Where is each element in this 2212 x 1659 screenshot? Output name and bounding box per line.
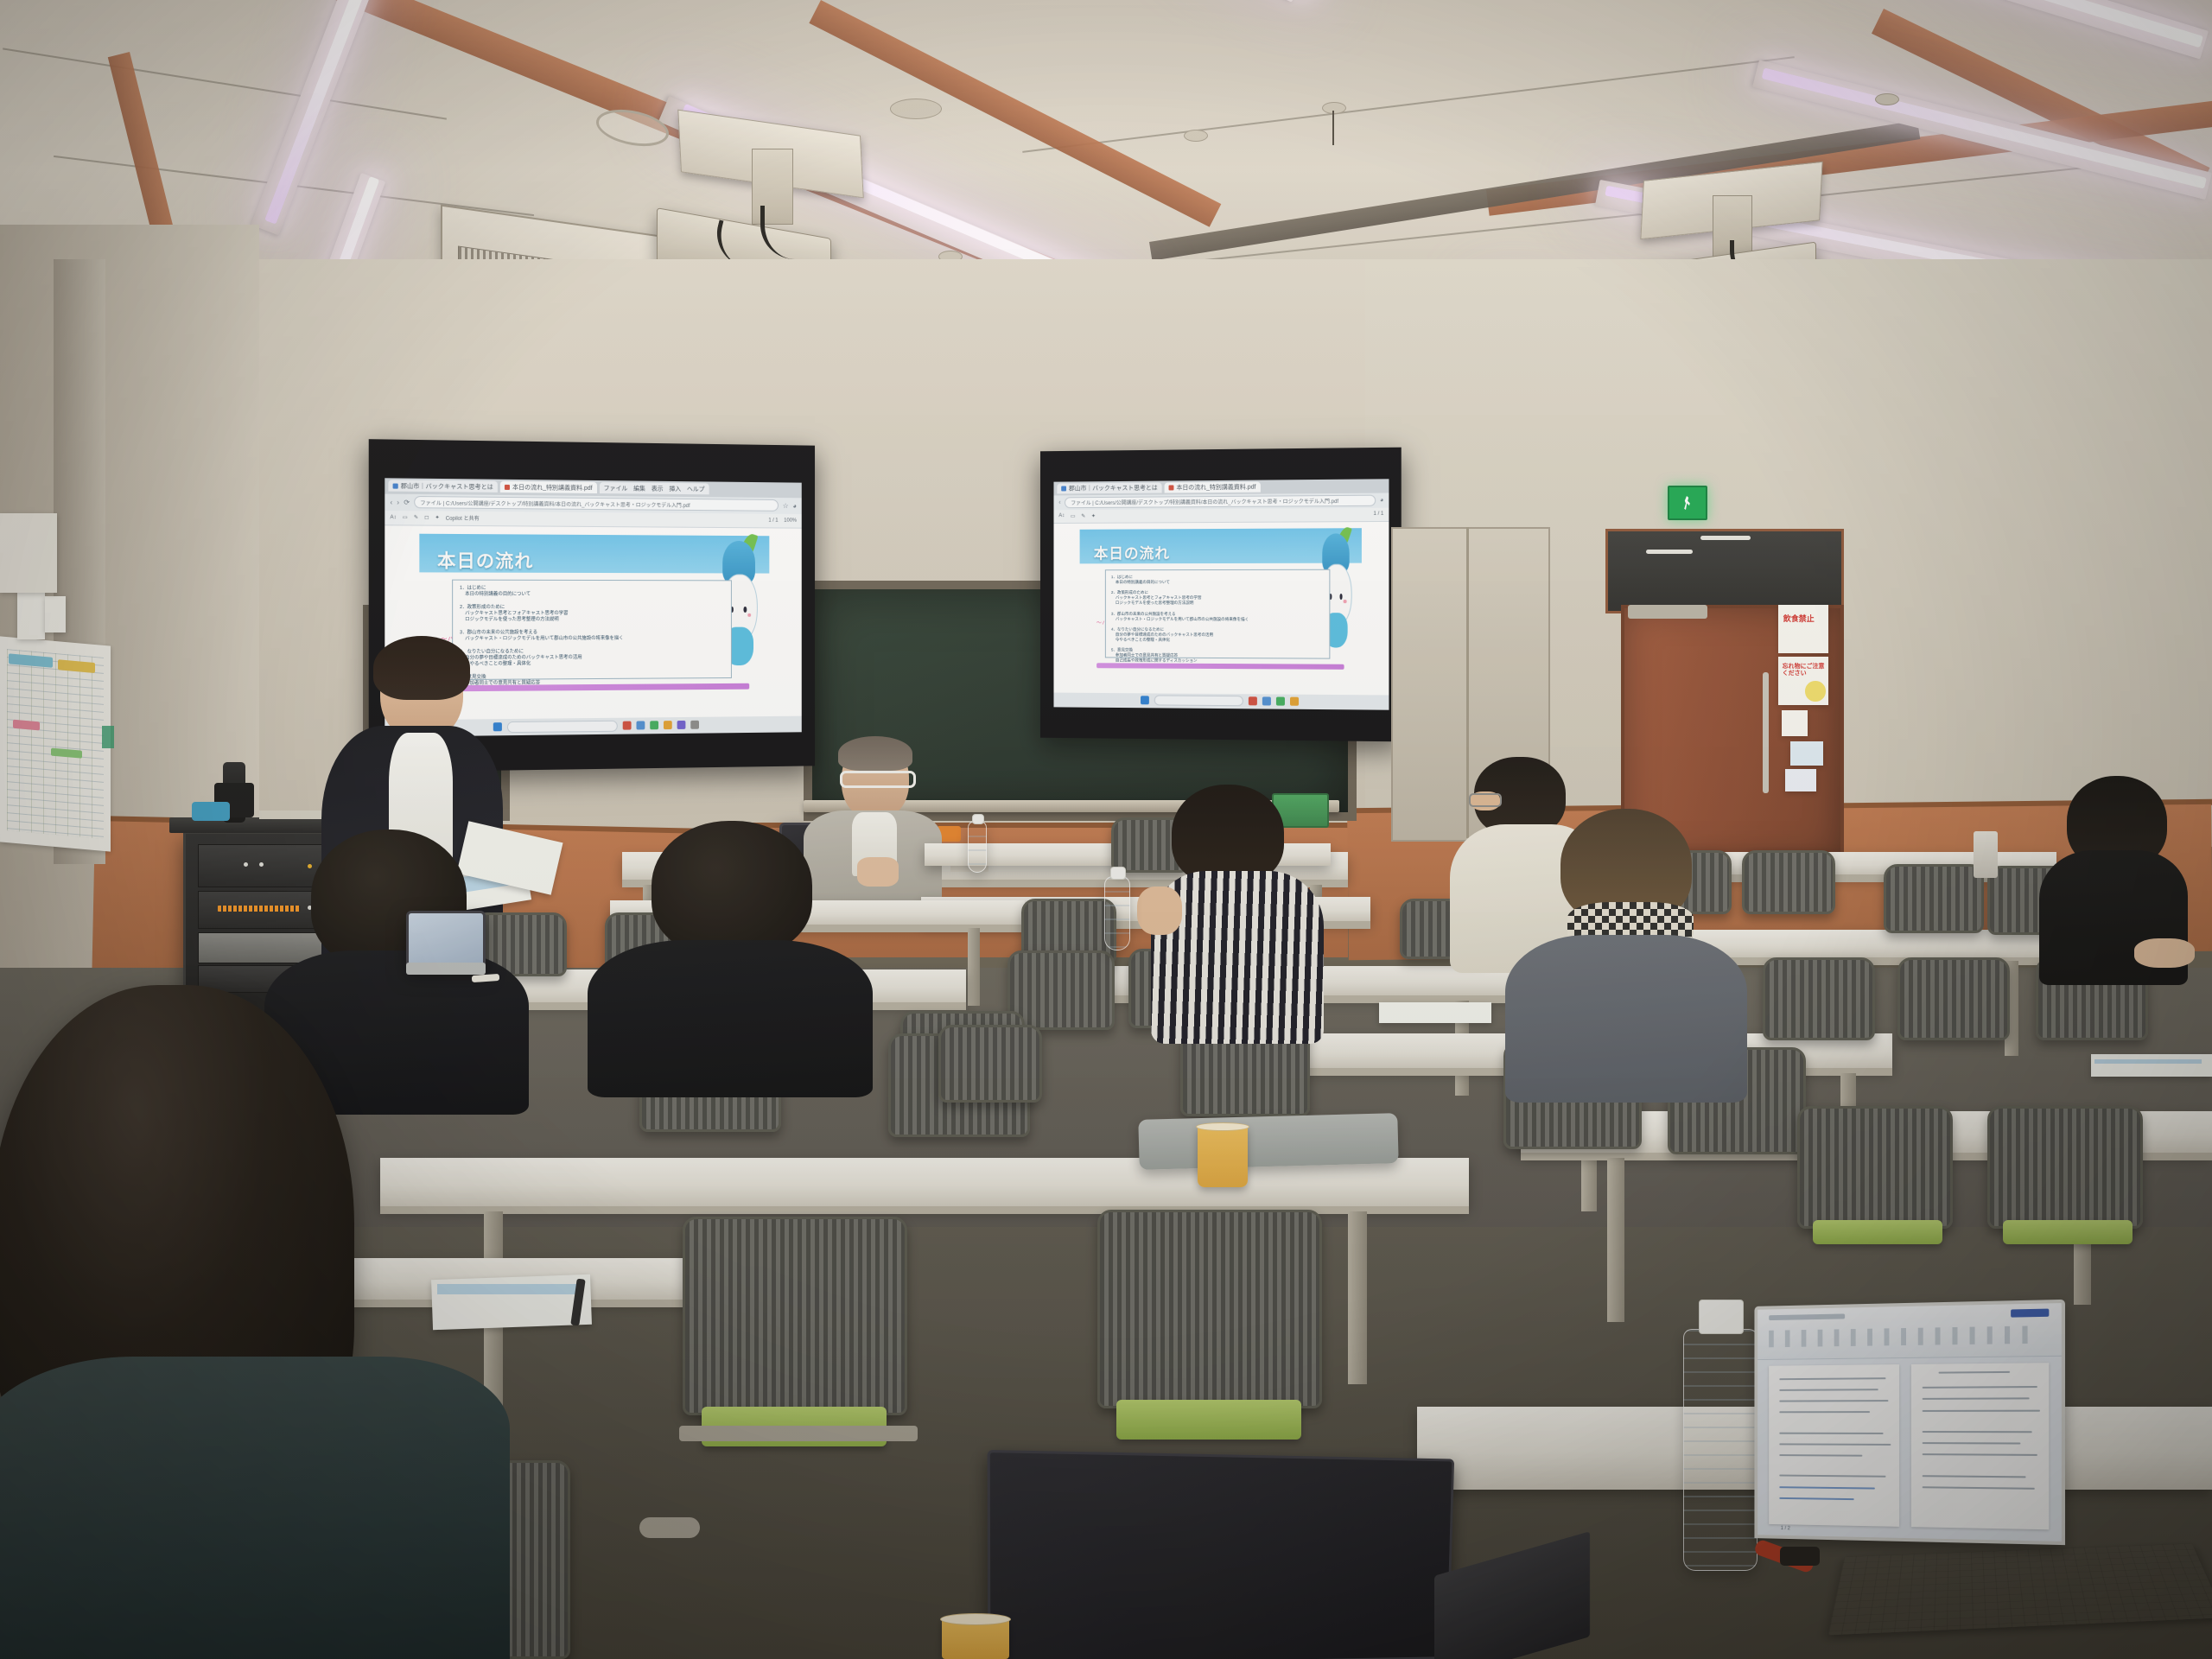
chair-seat <box>2003 1220 2133 1244</box>
slide-item: 2．政策形成のために バックキャスト思考とフォアキャスト思考の学習 ロジックモデ… <box>460 605 724 624</box>
exit-sign <box>1668 486 1707 520</box>
browser-tab-active[interactable]: 本日の流れ_特別講義資料.pdf <box>500 481 597 493</box>
slide-item: 5．意見交換 参加者同士での意見共有と質疑応答 自己成長や政策形成に関するディス… <box>1111 648 1324 664</box>
bottle-body <box>1104 876 1130 950</box>
text-line <box>1779 1454 1862 1457</box>
ribbon-icons[interactable] <box>1769 1325 2036 1347</box>
app-icon[interactable] <box>637 721 645 730</box>
chair-back <box>1763 957 1875 1040</box>
slide-body-box: 1．はじめに 本日の特別講義の目的について 2．政策形成のために バックキャスト… <box>1105 569 1331 659</box>
text-line-link <box>1779 1486 1875 1489</box>
handout-accent <box>2094 1059 2202 1064</box>
app-icon[interactable] <box>1249 697 1257 706</box>
app-icon[interactable] <box>650 721 658 730</box>
browser-tab-label: ファイル 編集 表示 挿入 ヘルプ <box>604 484 705 493</box>
back-arrow-icon[interactable]: ‹ <box>1058 499 1060 505</box>
chair-back <box>1742 850 1835 914</box>
pdf-document-view[interactable]: 本日の流れ 〜バックキャスト思考で未来を描く ロジックモデル入門〜 <box>1053 521 1389 695</box>
attendee-hair <box>652 821 812 956</box>
browser-tab-label: 郡山市｜バックキャスト思考とは <box>1069 484 1158 493</box>
power-plug <box>1780 1547 1820 1566</box>
chair[interactable] <box>1987 1106 2143 1229</box>
paper-cup[interactable] <box>1198 1125 1248 1187</box>
favicon-icon <box>393 483 398 488</box>
door-transom <box>1605 529 1844 613</box>
app-icon[interactable] <box>1276 697 1285 706</box>
text-line <box>1779 1377 1885 1380</box>
slide-item-detail: ロジックモデルを使った思考整理の方法説明 <box>1111 601 1324 606</box>
save-icon[interactable] <box>2011 1308 2049 1318</box>
wall-sticker <box>1790 741 1823 766</box>
slide-item-detail: バックキャスト・ロジックモデルを用いて郡山市の公共施設の将来像を描く <box>460 636 724 643</box>
text-line <box>1922 1475 2026 1478</box>
chair-back <box>1897 957 2010 1040</box>
page-indicator: 1 / 1 <box>1373 512 1383 517</box>
text-line <box>1922 1486 2034 1490</box>
page-indicator: 1 / 1 <box>768 518 778 523</box>
text-line <box>1779 1411 1870 1413</box>
app-icon[interactable] <box>1262 697 1271 706</box>
slide-footer-bar <box>1096 663 1344 669</box>
chair[interactable] <box>1897 957 2010 1040</box>
text-line <box>1779 1389 1878 1391</box>
word-status-bar: 1 / 2 <box>1781 1526 1790 1531</box>
draw-icon[interactable]: ✎ <box>414 515 418 521</box>
back-arrow-icon[interactable]: ‹ <box>390 498 392 505</box>
water-bottle[interactable] <box>968 821 987 873</box>
laptop-open[interactable] <box>406 911 486 969</box>
erase-icon[interactable]: ◻ <box>424 515 429 521</box>
wall-poster <box>0 636 111 851</box>
text-line <box>1779 1443 1891 1446</box>
desk-item <box>1974 831 1998 878</box>
windows-taskbar[interactable] <box>1053 692 1389 709</box>
status-led <box>244 862 248 867</box>
wall-sticker <box>1782 710 1808 736</box>
favicon-icon <box>505 485 510 490</box>
text-line <box>1938 1371 2009 1374</box>
slide-item: 2．政策形成のために バックキャスト思考とフォアキャスト思考の学習 ロジックモデ… <box>1111 590 1324 606</box>
text-line <box>1779 1400 1888 1402</box>
start-icon[interactable] <box>1141 696 1149 705</box>
laptop-base <box>406 963 486 975</box>
attendee-teal-jacket <box>0 1357 510 1659</box>
notice-text: 忘れ物にご注意ください <box>1783 664 1828 677</box>
right-projection-screen: 郡山市｜バックキャスト思考とは 本日の流れ_特別講義資料.pdf ‹ ファイル … <box>1053 479 1389 709</box>
chair-back <box>938 1025 1042 1103</box>
browser-window-right[interactable]: 郡山市｜バックキャスト思考とは 本日の流れ_特別講義資料.pdf ‹ ファイル … <box>1053 479 1389 709</box>
chair-back <box>1797 1106 1953 1229</box>
handout-papers <box>1379 1002 1491 1023</box>
running-person-icon <box>1683 496 1692 510</box>
app-icon[interactable] <box>677 721 686 729</box>
text-line <box>1922 1409 2040 1411</box>
smoke-detector <box>1184 130 1208 142</box>
wall-notice-no-food: 飲食禁止 <box>1778 605 1828 653</box>
ribbon-tabs[interactable] <box>1769 1313 1845 1320</box>
slide-item: 3．郡山市の未来の公共施設を考える バックキャスト・ロジックモデルを用いて郡山市… <box>1111 611 1324 622</box>
app-icon[interactable] <box>664 721 672 730</box>
chair[interactable] <box>1742 850 1835 914</box>
document-page-right <box>1911 1363 2049 1529</box>
forward-arrow-icon[interactable]: › <box>397 499 399 506</box>
chair[interactable] <box>683 1217 907 1415</box>
slide-item-detail: 本日の特別講義の目的について <box>1111 580 1324 585</box>
laptop-sleeve <box>1138 1113 1398 1170</box>
word-ribbon[interactable] <box>1758 1303 2062 1360</box>
document-page-left <box>1769 1364 1899 1526</box>
slide-title: 本日の流れ <box>1094 541 1170 563</box>
desk-leg <box>1348 1211 1367 1384</box>
favicon-icon <box>1061 486 1066 491</box>
slide-item-detail: 今やるべきことの整理・具体化 <box>1111 638 1324 644</box>
highlight-icon[interactable]: ▭ <box>403 515 408 521</box>
star-icon[interactable]: ☆ <box>783 502 789 510</box>
poster-content <box>7 649 105 838</box>
app-icon[interactable] <box>690 721 699 729</box>
chair[interactable] <box>1797 1106 1953 1229</box>
mascot-eye <box>744 607 747 613</box>
paper-cup[interactable] <box>942 1618 1009 1659</box>
text-line <box>1922 1442 2020 1444</box>
water-bottle[interactable] <box>1683 1329 1758 1571</box>
browser-tab-active[interactable]: 本日の流れ_特別講義資料.pdf <box>1165 482 1261 493</box>
chair-seat <box>1116 1400 1301 1440</box>
cup-rim <box>1196 1122 1249 1131</box>
right-projection-screen-frame: 郡山市｜バックキャスト思考とは 本日の流れ_特別講義資料.pdf ‹ ファイル … <box>1040 448 1402 742</box>
wall-sticker <box>1785 769 1816 791</box>
draw-icon[interactable]: ✎ <box>1081 513 1085 519</box>
chair[interactable] <box>1763 957 1875 1040</box>
browser-tab[interactable]: 郡山市｜バックキャスト思考とは <box>1057 483 1161 493</box>
smoke-detector <box>1875 93 1899 105</box>
chair-back <box>1097 1210 1322 1408</box>
text-line <box>1779 1433 1883 1434</box>
person-attendee-left-3 <box>570 821 873 1097</box>
app-icon[interactable] <box>1290 697 1299 706</box>
person-attendee-front-left <box>0 985 527 1659</box>
slide-item: 3．郡山市の未来の公共施設を考える バックキャスト・ロジックモデルを用いて郡山市… <box>460 630 724 643</box>
profile-icon[interactable]: ◕ <box>792 502 797 510</box>
profile-icon[interactable]: ◕ <box>1380 498 1383 504</box>
chair[interactable] <box>1884 864 1984 933</box>
desk-leg <box>1607 1158 1624 1322</box>
blue-item <box>192 802 230 821</box>
reload-icon[interactable]: ⟳ <box>404 499 410 506</box>
notice-text: 飲食禁止 <box>1783 615 1815 623</box>
attendee-hand <box>2134 938 2195 968</box>
chair-seat <box>1813 1220 1942 1244</box>
transom-light <box>1700 536 1751 540</box>
attendee-hair <box>1172 785 1284 885</box>
text-line <box>1779 1475 1885 1478</box>
mascot-eye <box>1340 594 1343 599</box>
copilot-icon[interactable]: ✦ <box>435 515 439 521</box>
bottle-body <box>968 821 987 873</box>
copilot-icon[interactable]: ✦ <box>1091 513 1096 519</box>
moderator-hair <box>838 736 912 771</box>
door-handle[interactable] <box>1763 672 1769 793</box>
slide-item: 1．はじめに 本日の特別講義の目的について <box>460 586 724 599</box>
bottle-cap <box>972 814 984 824</box>
cup-rim <box>940 1613 1011 1625</box>
slide-item-detail: ロジックモデルを使った思考整理の方法説明 <box>460 617 724 624</box>
bottle-cap <box>1110 867 1126 880</box>
browser-tab[interactable]: ファイル 編集 表示 挿入 ヘルプ <box>600 483 709 495</box>
slide-item-detail: 本日の特別講義の目的について <box>460 592 724 598</box>
wall-notice-lost-items: 忘れ物にご注意ください <box>1778 657 1828 705</box>
laptop-black-foreground[interactable] <box>988 1450 1455 1659</box>
chair-back <box>683 1217 907 1415</box>
laptop-white[interactable]: 1 / 2 <box>1754 1300 2065 1545</box>
wall-notice <box>0 513 57 593</box>
attendee-gray-jacket <box>1505 935 1747 1103</box>
wall-notice <box>17 589 45 639</box>
app-icon[interactable] <box>623 721 632 730</box>
person-attendee-scarf <box>1505 809 1747 1103</box>
attendee-hand <box>1137 887 1182 935</box>
text-size-icon[interactable]: A↕ <box>390 515 396 520</box>
zoom-level[interactable]: 100% <box>784 518 797 524</box>
url-text[interactable]: ファイル | C:/Users/公開講座/デスクトップ/特別講義資料/本日の流れ… <box>1065 495 1375 508</box>
transom-light <box>1646 550 1693 554</box>
notice-graphic <box>1805 681 1825 702</box>
bottle-body <box>1683 1329 1758 1571</box>
chair-frame <box>679 1426 918 1441</box>
taskbar-search[interactable] <box>1154 696 1243 707</box>
text-line <box>1922 1398 2029 1401</box>
handout-papers <box>2091 1054 2212 1077</box>
ceiling-vent <box>890 99 942 119</box>
taskbar-search[interactable] <box>507 721 618 733</box>
wall-marker <box>102 726 114 748</box>
browser-tab-label: 郡山市｜バックキャスト思考とは <box>401 481 493 491</box>
chair-frame <box>639 1517 700 1538</box>
browser-tab-label: 本日の流れ_特別講義資料.pdf <box>512 483 593 493</box>
glasses-icon <box>1469 793 1502 807</box>
desk-leg <box>968 928 980 1006</box>
slide-item: 1．はじめに 本日の特別講義の目的について <box>1111 575 1324 585</box>
url-text[interactable]: ファイル | C:/Users/公開講座/デスクトップ/特別講義資料/本日の流れ… <box>414 496 779 512</box>
browser-tab-label: 本日の流れ_特別講義資料.pdf <box>1176 483 1255 493</box>
presentation-slide: 本日の流れ 〜バックキャスト思考で未来を描く ロジックモデル入門〜 <box>1080 529 1362 674</box>
presenter-hair <box>373 636 470 700</box>
slide-item: 4．なりたい自分になるために 自分の夢や目標達成のためのバックキャスト思考の活用… <box>1111 627 1324 644</box>
smoke-detector <box>1322 102 1346 114</box>
text-line <box>1922 1431 2031 1433</box>
browser-tab[interactable]: 郡山市｜バックキャスト思考とは <box>388 480 497 493</box>
glasses-icon <box>840 771 916 788</box>
text-line <box>1922 1386 2037 1389</box>
mascot-cheek <box>1344 600 1346 603</box>
door-closer <box>1628 605 1707 619</box>
paper-slip <box>259 810 321 819</box>
chair[interactable] <box>938 1025 1042 1103</box>
highlight-icon[interactable]: ▭ <box>1071 513 1076 519</box>
attendee-black-jacket <box>588 940 873 1097</box>
mascot-cheek <box>748 613 752 618</box>
chair-back <box>1987 1106 2143 1229</box>
text-line <box>1922 1453 2037 1456</box>
copilot-label[interactable]: Copilot と共有 <box>446 514 480 522</box>
chair[interactable] <box>1097 1210 1322 1408</box>
person-attendee-striped <box>1142 785 1324 1044</box>
hanging-wire <box>1332 111 1334 145</box>
classroom-photo: 郡山市｜バックキャスト思考とは 本日の流れ_特別講義資料.pdf ファイル 編集… <box>0 0 2212 1659</box>
text-line-link <box>1779 1497 1854 1500</box>
water-bottle[interactable] <box>1104 876 1130 950</box>
text-size-icon[interactable]: A↕ <box>1058 513 1065 518</box>
slide-title: 本日の流れ <box>437 547 533 574</box>
slide-item-detail: バックキャスト・ロジックモデルを用いて郡山市の公共施設の将来像を描く <box>1111 616 1324 622</box>
wall-notice <box>45 596 66 632</box>
favicon-icon <box>1169 485 1174 490</box>
chair-back <box>1884 864 1984 933</box>
laptop-screen[interactable]: 1 / 2 <box>1754 1300 2065 1545</box>
bottle-cap <box>1699 1300 1744 1334</box>
